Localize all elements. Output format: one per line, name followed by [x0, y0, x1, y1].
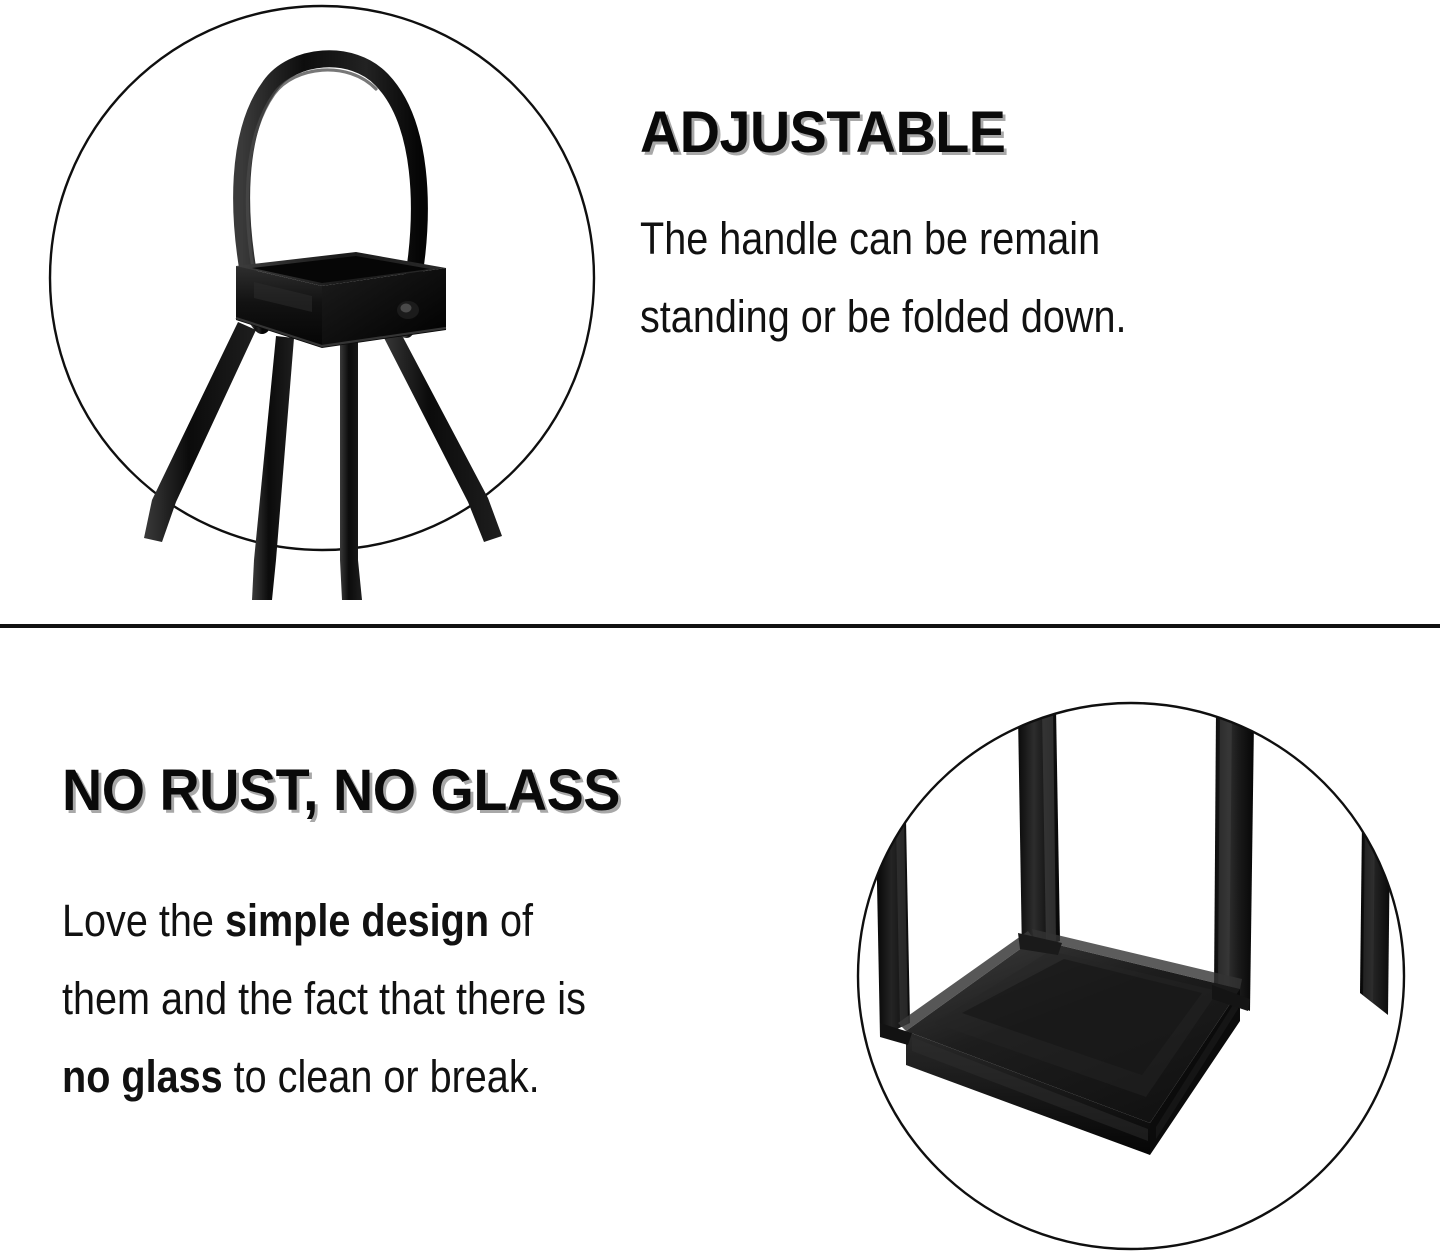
body-line: The handle can be remain: [640, 200, 1127, 278]
lantern-handle-closeup-image: [40, 0, 610, 600]
body-line: them and the fact that there is: [62, 960, 586, 1038]
corner-post-front-left: [1018, 707, 1060, 955]
body-span: them and the fact that there is: [62, 973, 586, 1024]
open-frame-base-closeup-image: [850, 693, 1416, 1255]
body-span: The handle can be remain: [640, 213, 1100, 264]
body-span-bold: simple design: [225, 895, 489, 946]
stand-legs: [144, 322, 502, 600]
body-span: of: [489, 895, 533, 946]
square-base-plate: [898, 929, 1242, 1155]
no-rust-text-block: NO RUST, NO GLASS Love the simple design…: [62, 762, 657, 1116]
adjustable-heading: ADJUSTABLE: [640, 104, 1171, 162]
corner-post-back-right: [1360, 821, 1390, 1015]
body-span: Love the: [62, 895, 225, 946]
infographic-canvas: ADJUSTABLE The handle can be remain stan…: [0, 0, 1440, 1255]
body-span: standing or be folded down.: [640, 291, 1127, 342]
body-line: no glass to clean or break.: [62, 1038, 586, 1116]
corner-post-back-left: [876, 819, 910, 1037]
body-span: to clean or break.: [223, 1051, 540, 1102]
body-line: Love the simple design of: [62, 882, 586, 960]
no-rust-body: Love the simple design of them and the f…: [62, 882, 586, 1116]
body-span-bold: no glass: [62, 1051, 223, 1102]
section-divider: [0, 624, 1440, 628]
body-line: standing or be folded down.: [640, 278, 1127, 356]
square-box-frame: [236, 252, 446, 348]
adjustable-text-block: ADJUSTABLE The handle can be remain stan…: [640, 104, 1193, 356]
no-rust-heading: NO RUST, NO GLASS: [62, 762, 634, 820]
adjustable-body: The handle can be remain standing or be …: [640, 200, 1127, 356]
handle-pivot-rivet: [397, 301, 419, 319]
corner-post-front-right: [1214, 711, 1254, 1011]
